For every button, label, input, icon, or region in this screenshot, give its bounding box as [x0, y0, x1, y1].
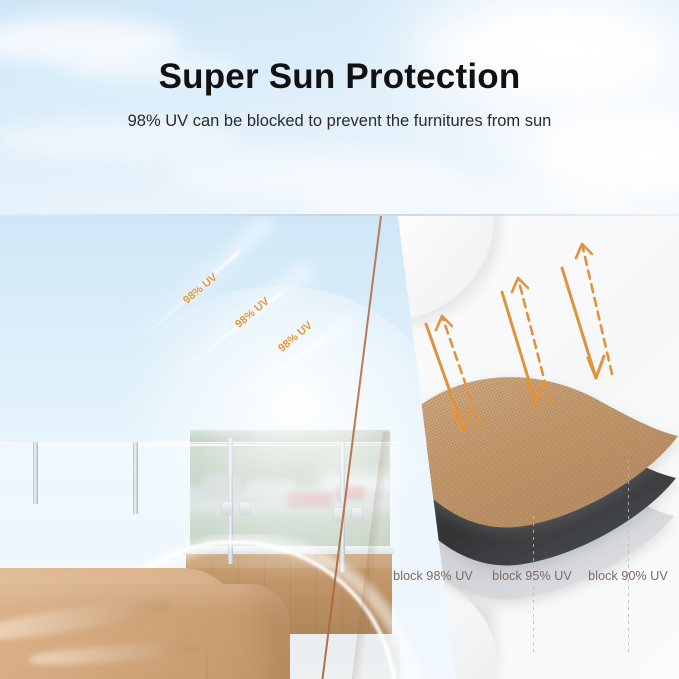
railing-post: [33, 442, 38, 504]
leader-line: [628, 460, 629, 652]
layer-caption-95: block 95% UV: [492, 569, 572, 583]
header-sky-background: [0, 0, 679, 216]
page-title: Super Sun Protection: [0, 57, 679, 97]
page-subtitle: 98% UV can be blocked to prevent the fur…: [0, 112, 679, 131]
layer-caption-90: block 90% UV: [588, 569, 668, 583]
product-feature-graphic: Super Sun Protection 98% UV can be block…: [0, 0, 679, 679]
leader-line: [533, 516, 534, 652]
layer-caption-98: block 98% UV: [393, 569, 473, 583]
cover-seam: [206, 634, 208, 679]
